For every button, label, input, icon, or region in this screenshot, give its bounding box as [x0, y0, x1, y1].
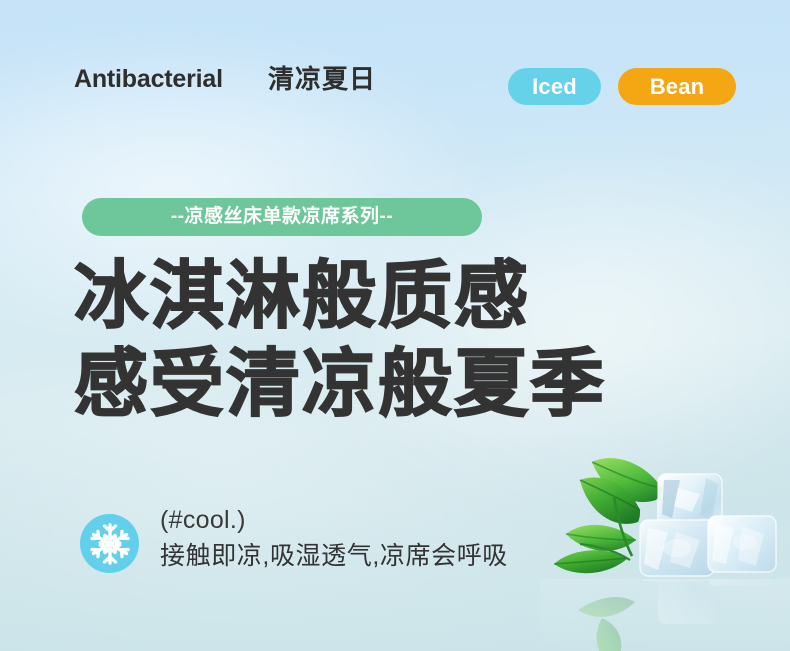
feature-tagline-en: (#cool.) [160, 503, 508, 537]
ice-cubes-and-mint-leaves [540, 436, 790, 651]
headline-line-2: 感受清凉般夏季 [74, 340, 606, 428]
tag-iced[interactable]: Iced [508, 68, 601, 105]
headline-line-1: 冰淇淋般质感 [74, 252, 606, 340]
series-badge: --凉感丝床单款凉席系列-- [82, 198, 482, 236]
header-row: Antibacterial 清凉夏日 Iced Bean [0, 62, 790, 110]
tag-bean[interactable]: Bean [618, 68, 736, 105]
promo-banner: Antibacterial 清凉夏日 Iced Bean --凉感丝床单款凉席系… [0, 0, 790, 651]
feature-tagline-cn: 接触即凉,吸湿透气,凉席会呼吸 [160, 537, 508, 575]
brand-english-label: Antibacterial [74, 62, 223, 96]
headline: 冰淇淋般质感 感受清凉般夏季 [74, 252, 606, 428]
snowflake-icon [80, 514, 139, 573]
feature-block: (#cool.) 接触即凉,吸湿透气,凉席会呼吸 [80, 503, 508, 575]
feature-text: (#cool.) 接触即凉,吸湿透气,凉席会呼吸 [160, 503, 508, 575]
brand-chinese-label: 清凉夏日 [268, 62, 376, 96]
